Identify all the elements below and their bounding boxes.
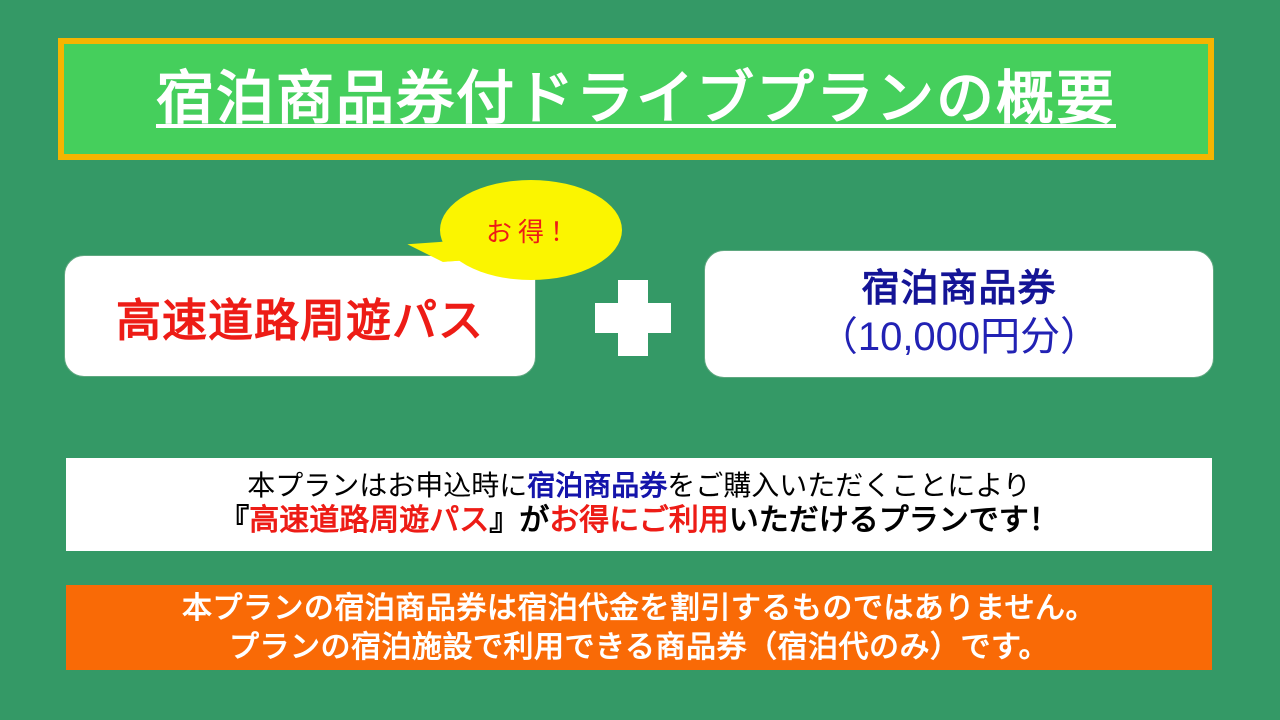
speech-bubble-label: お得！ <box>480 212 582 249</box>
description-box: 本プランはお申込時に宿泊商品券をご購入いただくことにより 『高速道路周遊パス』が… <box>66 458 1212 551</box>
description-line-1: 本プランはお申込時に宿泊商品券をご購入いただくことにより <box>247 469 1030 503</box>
description-line-2-part-5: いただけるプランです！ <box>729 504 1059 537</box>
plus-icon-vertical-bar <box>618 280 648 356</box>
description-line-2-open-bracket: 『 <box>219 504 249 537</box>
page-title: 宿泊商品券付ドライブプランの概要 <box>156 67 1116 131</box>
speech-bubble-body: お得！ <box>440 180 622 280</box>
notice-line-1: 本プランの宿泊商品券は宿泊代金を割引するものではありません。 <box>182 589 1096 628</box>
plus-icon <box>587 272 679 364</box>
description-line-1-part-1: 本プランはお申込時に <box>247 470 527 501</box>
description-line-1-part-3: をご購入いただくことにより <box>667 470 1030 501</box>
notice-line-2: プランの宿泊施設で利用できる商品券（宿泊代のみ）です。 <box>229 628 1049 667</box>
title-banner: 宿泊商品券付ドライブプランの概要 <box>58 38 1214 160</box>
highway-pass-label: 高速道路周遊パス <box>116 284 484 349</box>
description-line-1-highlight-voucher: 宿泊商品券 <box>527 470 667 501</box>
voucher-title: 宿泊商品券 <box>861 268 1056 312</box>
speech-bubble: お得！ <box>440 180 622 280</box>
voucher-amount: （10,000円分） <box>818 314 1100 360</box>
accommodation-voucher-card: 宿泊商品券 （10,000円分） <box>704 250 1214 378</box>
description-line-2-close-bracket: 』が <box>489 504 549 537</box>
description-line-2-highlight-pass: 高速道路周遊パス <box>249 504 489 537</box>
description-line-2: 『高速道路周遊パス』がお得にご利用いただけるプランです！ <box>219 503 1058 540</box>
notice-box: 本プランの宿泊商品券は宿泊代金を割引するものではありません。 プランの宿泊施設で… <box>66 585 1212 670</box>
description-line-2-highlight-benefit: お得にご利用 <box>549 504 728 537</box>
slide-canvas: 宿泊商品券付ドライブプランの概要 高速道路周遊パス 宿泊商品券 （10,000円… <box>0 0 1280 720</box>
